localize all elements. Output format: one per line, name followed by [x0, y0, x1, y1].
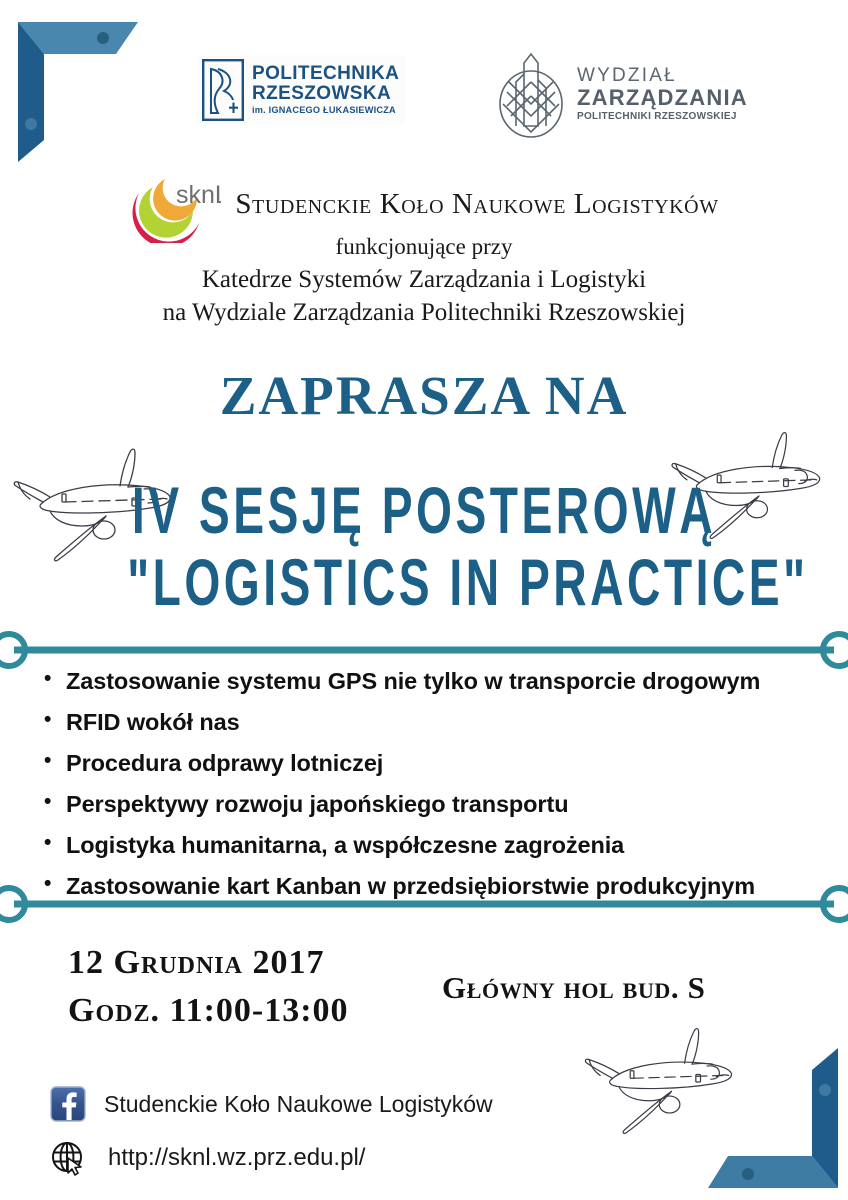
wydzial-zarzadzania-logo: WYDZIAŁ ZARZĄDZANIA POLITECHNIKI RZESZOW…	[495, 48, 748, 140]
header-logos: POLITECHNIKA RZESZOWSKA im. IGNACEGO ŁUK…	[0, 48, 848, 143]
club-title: Studenckie Koło Naukowe Logistyków	[235, 188, 718, 221]
logo-line-2: RZESZOWSKA	[252, 84, 399, 103]
airplane-illustration-bottom	[578, 1022, 763, 1142]
facebook-contact[interactable]: Studenckie Koło Naukowe Logistyków	[50, 1086, 493, 1122]
logo-line-3: POLITECHNIKI RZESZOWSKIEJ	[577, 112, 748, 122]
event-title-line-2: "LOGISTICS IN PRACTICE"	[127, 544, 721, 620]
logo-line-3: im. IGNACEGO ŁUKASIEWICZA	[252, 106, 399, 115]
list-item: Perspektywy rozwoju japońskiego transpor…	[36, 791, 826, 818]
website-label: http://sknl.wz.prz.edu.pl/	[108, 1144, 365, 1172]
facebook-label: Studenckie Koło Naukowe Logistyków	[104, 1091, 493, 1118]
list-item: Zastosowanie systemu GPS nie tylko w tra…	[36, 668, 826, 695]
event-date: 12 Grudnia 2017	[68, 944, 324, 982]
list-item: RFID wokół nas	[36, 709, 826, 736]
divider-rule-bottom	[0, 884, 848, 924]
wydzial-emblem-icon	[495, 48, 567, 140]
website-contact[interactable]: http://sknl.wz.prz.edu.pl/	[50, 1140, 365, 1176]
facebook-icon[interactable]	[50, 1086, 86, 1122]
affiliation-line-3: na Wydziale Zarządzania Politechniki Rze…	[0, 296, 848, 329]
logo-line-1: POLITECHNIKA	[252, 64, 399, 83]
event-title-line-1: IV SESJĘ POSTEROWĄ	[127, 472, 721, 548]
divider-rule-top	[0, 630, 848, 670]
affiliation-line-1: funkcjonujące przy	[0, 232, 848, 263]
poster-canvas: POLITECHNIKA RZESZOWSKA im. IGNACEGO ŁUK…	[0, 0, 848, 1200]
event-time: Godz. 11:00-13:00	[68, 992, 349, 1030]
invite-heading: ZAPRASZA NA	[0, 364, 848, 427]
svg-text:skn: skn	[176, 181, 215, 209]
club-affiliation: funkcjonujące przy Katedrze Systemów Zar…	[0, 232, 848, 329]
logo-line-1: WYDZIAŁ	[577, 66, 748, 85]
event-place: Główny hol bud. S	[442, 970, 705, 1006]
politechnika-crest-icon	[202, 59, 244, 121]
list-item: Procedura odprawy lotniczej	[36, 750, 826, 777]
politechnika-rzeszowska-logo: POLITECHNIKA RZESZOWSKA im. IGNACEGO ŁUK…	[196, 55, 405, 125]
list-item: Logistyka humanitarna, a współczesne zag…	[36, 832, 826, 859]
topic-list: Zastosowanie systemu GPS nie tylko w tra…	[36, 668, 826, 914]
logo-line-2: ZARZĄDZANIA	[577, 87, 748, 109]
affiliation-line-2: Katedrze Systemów Zarządzania i Logistyk…	[0, 263, 848, 296]
globe-icon[interactable]	[50, 1140, 86, 1176]
